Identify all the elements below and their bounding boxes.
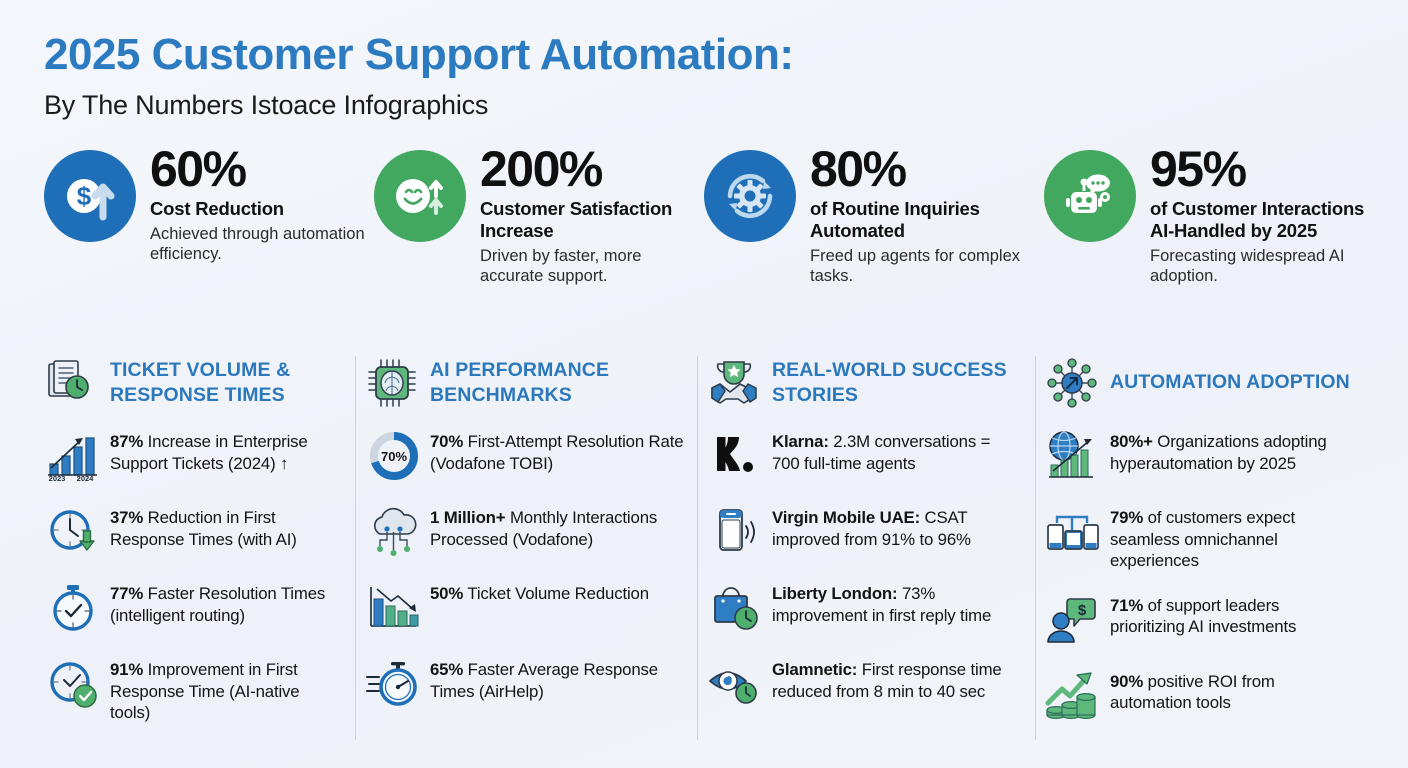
list-item: Liberty London: 73% improvement in first… bbox=[706, 580, 1022, 636]
donut-label: 70% bbox=[381, 449, 407, 464]
dollar-coin-up-arrow-icon: $ bbox=[44, 150, 136, 242]
kpi-text: 80% of Routine Inquiries Automated Freed… bbox=[810, 142, 1044, 287]
list-item-text: 70% First-Attempt Resolution Rate (Vodaf… bbox=[430, 428, 684, 474]
column-title: AI PERFORMANCE BENCHMARKS bbox=[430, 358, 684, 409]
svg-text:2023: 2023 bbox=[49, 474, 66, 482]
column-items: 2023 2024 87% Increase in Enterprise Sup… bbox=[44, 428, 342, 724]
list-item-text: 79% of customers expect seamless omnicha… bbox=[1110, 504, 1354, 572]
kpi-card-cost-reduction: $ 60% Cost Reduction Achieved through au… bbox=[44, 142, 374, 287]
column-header: TICKET VOLUME & RESPONSE TIMES bbox=[44, 352, 342, 414]
kpi-text: 200% Customer Satisfaction Increase Driv… bbox=[480, 142, 704, 287]
list-item: 50% Ticket Volume Reduction bbox=[364, 580, 684, 636]
list-item-desc: First-Attempt Resolution Rate (Vodafone … bbox=[430, 432, 683, 473]
bar-chart-growth-icon: 2023 2024 bbox=[44, 428, 104, 484]
list-item-text: 90% positive ROI from automation tools bbox=[1110, 668, 1354, 714]
column-automation-adoption: AUTOMATION ADOPTION bbox=[1044, 352, 1376, 744]
kpi-description: Freed up agents for complex tasks. bbox=[810, 246, 1044, 287]
list-item-text: 80%+ Organizations adopting hyperautomat… bbox=[1110, 428, 1354, 474]
list-item-stat: 50% bbox=[430, 584, 463, 603]
kpi-text: 60% Cost Reduction Achieved through auto… bbox=[150, 142, 374, 265]
svg-text:$: $ bbox=[77, 181, 92, 211]
kpi-description: Driven by faster, more accurate support. bbox=[480, 246, 704, 287]
trophy-handshake-icon bbox=[706, 358, 762, 408]
svg-text:2024: 2024 bbox=[77, 474, 95, 482]
list-item-stat: Virgin Mobile UAE: bbox=[772, 508, 920, 527]
list-item-text: 37% Reduction in First Response Times (w… bbox=[110, 504, 342, 550]
kpi-value: 80% bbox=[810, 144, 1044, 194]
list-item: 65% Faster Average Response Times (AirHe… bbox=[364, 656, 684, 712]
column-items: Klarna: 2.3M conversations = 700 full-ti… bbox=[706, 428, 1022, 712]
list-item: Virgin Mobile UAE: CSAT improved from 91… bbox=[706, 504, 1022, 560]
list-item-text: 71% of support leaders prioritizing AI i… bbox=[1110, 592, 1354, 638]
list-item: $ 71% of support leaders prioritizing AI… bbox=[1044, 592, 1354, 648]
column-header: AUTOMATION ADOPTION bbox=[1044, 352, 1354, 414]
list-item-text: 50% Ticket Volume Reduction bbox=[430, 580, 649, 605]
list-item-text: 87% Increase in Enterprise Support Ticke… bbox=[110, 428, 342, 474]
kpi-row: $ 60% Cost Reduction Achieved through au… bbox=[44, 142, 1374, 287]
donut-chart-icon: 70% bbox=[364, 428, 424, 484]
smiley-up-arrows-icon bbox=[374, 150, 466, 242]
list-item-stat: Glamnetic: bbox=[772, 660, 857, 679]
column-divider bbox=[697, 356, 698, 740]
list-item-stat: 70% bbox=[430, 432, 463, 451]
list-item-text: 1 Million+ Monthly Interactions Processe… bbox=[430, 504, 684, 550]
kpi-text: 95% of Customer Interactions AI-Handled … bbox=[1150, 142, 1374, 287]
column-title: REAL-WORLD SUCCESS STORIES bbox=[772, 358, 1022, 409]
list-item-stat: 87% bbox=[110, 432, 143, 451]
list-item-stat: 90% bbox=[1110, 672, 1143, 691]
list-item-stat: 65% bbox=[430, 660, 463, 679]
list-item-text: 65% Faster Average Response Times (AirHe… bbox=[430, 656, 684, 702]
column-ai-performance: AI PERFORMANCE BENCHMARKS 70% 70% First-… bbox=[364, 352, 706, 744]
column-header: AI PERFORMANCE BENCHMARKS bbox=[364, 352, 684, 414]
kpi-label: Customer Satisfaction Increase bbox=[480, 198, 704, 242]
kpi-card-satisfaction: 200% Customer Satisfaction Increase Driv… bbox=[374, 142, 704, 287]
column-header: REAL-WORLD SUCCESS STORIES bbox=[706, 352, 1022, 414]
kpi-card-routine-inquiries: 80% of Routine Inquiries Automated Freed… bbox=[704, 142, 1044, 287]
gear-refresh-icon bbox=[704, 150, 796, 242]
list-item: 2023 2024 87% Increase in Enterprise Sup… bbox=[44, 428, 342, 484]
list-item-desc: Faster Resolution Times (intelligent rou… bbox=[110, 584, 325, 625]
list-item-stat: 91% bbox=[110, 660, 143, 679]
list-item-desc: Ticket Volume Reduction bbox=[463, 584, 649, 603]
stopwatch-check-icon bbox=[44, 580, 104, 636]
ai-chip-brain-icon bbox=[364, 358, 420, 408]
list-item: Klarna: 2.3M conversations = 700 full-ti… bbox=[706, 428, 1022, 484]
list-item-stat: 79% bbox=[1110, 508, 1143, 527]
list-item: 70% 70% First-Attempt Resolution Rate (V… bbox=[364, 428, 684, 484]
person-money-chat-icon: $ bbox=[1044, 592, 1104, 648]
klarna-logo-icon bbox=[706, 428, 766, 484]
list-item: 80%+ Organizations adopting hyperautomat… bbox=[1044, 428, 1354, 484]
list-item: 77% Faster Resolution Times (intelligent… bbox=[44, 580, 342, 636]
list-item-text: Liberty London: 73% improvement in first… bbox=[772, 580, 1022, 626]
cloud-network-icon bbox=[364, 504, 424, 560]
list-item: 91% Improvement in First Response Time (… bbox=[44, 656, 342, 724]
list-item-text: Glamnetic: First response time reduced f… bbox=[772, 656, 1022, 702]
roi-coins-arrow-icon bbox=[1044, 668, 1104, 724]
eye-clock-icon bbox=[706, 656, 766, 712]
kpi-description: Achieved through automation efficiency. bbox=[150, 224, 374, 265]
column-ticket-volume: TICKET VOLUME & RESPONSE TIMES bbox=[44, 352, 364, 744]
omnichannel-devices-icon bbox=[1044, 504, 1104, 560]
kpi-card-ai-handled: 95% of Customer Interactions AI-Handled … bbox=[1044, 142, 1374, 287]
kpi-value: 60% bbox=[150, 144, 374, 194]
kpi-description: Forecasting widespread AI adoption. bbox=[1150, 246, 1374, 287]
column-divider bbox=[1035, 356, 1036, 740]
list-item-stat: Klarna: bbox=[772, 432, 829, 451]
list-item: 1 Million+ Monthly Interactions Processe… bbox=[364, 504, 684, 560]
column-title: AUTOMATION ADOPTION bbox=[1110, 370, 1350, 395]
detail-columns: TICKET VOLUME & RESPONSE TIMES bbox=[44, 352, 1376, 744]
list-item-text: 91% Improvement in First Response Time (… bbox=[110, 656, 342, 724]
kpi-value: 95% bbox=[1150, 144, 1374, 194]
svg-text:$: $ bbox=[1078, 602, 1087, 619]
list-item-desc: Faster Average Response Times (AirHelp) bbox=[430, 660, 658, 701]
column-success-stories: REAL-WORLD SUCCESS STORIES Klarna: 2.3M … bbox=[706, 352, 1044, 744]
column-items: 70% 70% First-Attempt Resolution Rate (V… bbox=[364, 428, 684, 712]
list-item-stat: 71% bbox=[1110, 596, 1143, 615]
declining-bar-chart-icon bbox=[364, 580, 424, 636]
list-item-stat: Liberty London: bbox=[772, 584, 897, 603]
page-title: 2025 Customer Support Automation: bbox=[44, 32, 1408, 78]
list-item-text: Virgin Mobile UAE: CSAT improved from 91… bbox=[772, 504, 1022, 550]
header: 2025 Customer Support Automation: By The… bbox=[0, 0, 1408, 121]
shopping-bag-clock-icon bbox=[706, 580, 766, 636]
list-item-stat: 1 Million+ bbox=[430, 508, 505, 527]
kpi-value: 200% bbox=[480, 144, 704, 194]
smartphone-signal-icon bbox=[706, 504, 766, 560]
documents-clock-icon bbox=[44, 359, 100, 407]
list-item-text: 77% Faster Resolution Times (intelligent… bbox=[110, 580, 342, 626]
kpi-label: of Routine Inquiries Automated bbox=[810, 198, 1044, 242]
kpi-label: Cost Reduction bbox=[150, 198, 374, 220]
list-item: 79% of customers expect seamless omnicha… bbox=[1044, 504, 1354, 572]
column-title: TICKET VOLUME & RESPONSE TIMES bbox=[110, 358, 342, 409]
list-item: Glamnetic: First response time reduced f… bbox=[706, 656, 1022, 712]
robot-chat-icon bbox=[1044, 150, 1136, 242]
list-item-stat: 77% bbox=[110, 584, 143, 603]
list-item: 90% positive ROI from automation tools bbox=[1044, 668, 1354, 724]
clock-check-circle-icon bbox=[44, 656, 104, 712]
list-item-stat: 37% bbox=[110, 508, 143, 527]
clock-down-arrow-icon bbox=[44, 504, 104, 560]
globe-growth-chart-icon bbox=[1044, 428, 1104, 484]
kpi-label: of Customer Interactions AI-Handled by 2… bbox=[1150, 198, 1374, 242]
page-subtitle: By The Numbers Istoace Infographics bbox=[44, 90, 1408, 121]
list-item-stat: 80%+ bbox=[1110, 432, 1153, 451]
column-divider bbox=[355, 356, 356, 740]
column-items: 80%+ Organizations adopting hyperautomat… bbox=[1044, 428, 1354, 724]
speed-stopwatch-icon bbox=[364, 656, 424, 712]
network-arrow-hub-icon bbox=[1044, 357, 1100, 409]
list-item: 37% Reduction in First Response Times (w… bbox=[44, 504, 342, 560]
list-item-text: Klarna: 2.3M conversations = 700 full-ti… bbox=[772, 428, 1022, 474]
infographic-page: 2025 Customer Support Automation: By The… bbox=[0, 0, 1408, 768]
